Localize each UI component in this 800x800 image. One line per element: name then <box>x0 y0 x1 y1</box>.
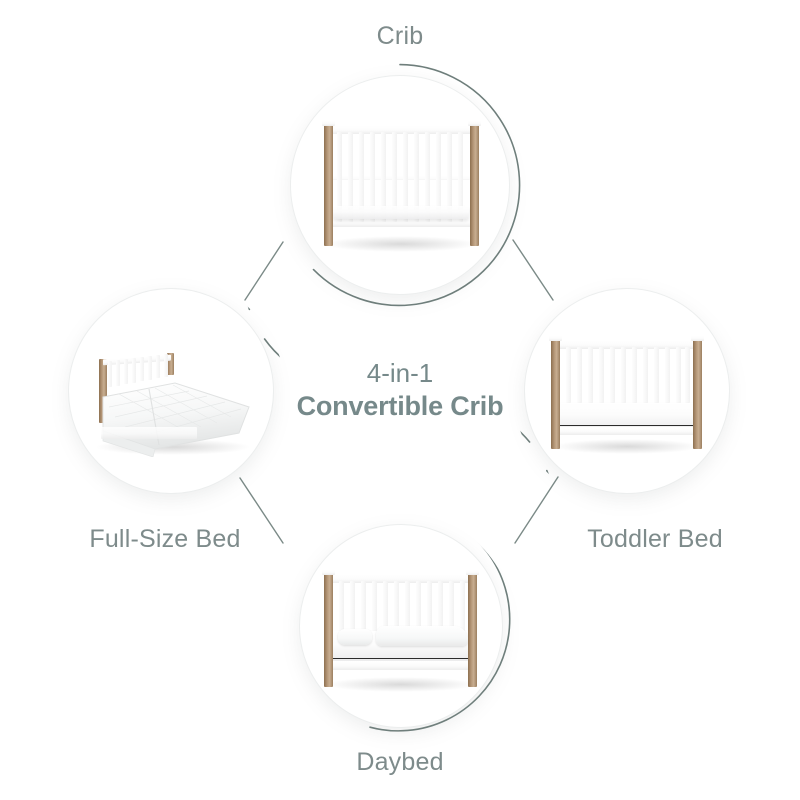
label-crib: Crib <box>300 22 500 51</box>
convertible-crib-infographic: Crib <box>0 0 800 800</box>
crib-front-icon <box>306 118 494 253</box>
label-toddler-bed: Toddler Bed <box>545 525 765 554</box>
daybed-pillow <box>338 629 372 645</box>
full-size-bed-comforter <box>89 371 257 457</box>
node-daybed[interactable] <box>288 513 514 739</box>
label-full-size-bed: Full-Size Bed <box>55 525 275 554</box>
center-caption-line2: Convertible Crib <box>256 390 544 423</box>
center-caption: 4-in-1 Convertible Crib <box>256 358 544 423</box>
node-crib[interactable] <box>278 63 522 307</box>
label-daybed: Daybed <box>300 748 500 777</box>
daybed-blanket <box>376 626 468 646</box>
node-toddler-bed[interactable] <box>513 277 741 505</box>
toddler-bed-icon <box>537 335 717 457</box>
node-full-size-bed[interactable] <box>57 277 285 505</box>
daybed-icon <box>310 569 492 695</box>
full-size-bed-icon <box>81 331 263 459</box>
center-caption-line1: 4-in-1 <box>256 358 544 390</box>
